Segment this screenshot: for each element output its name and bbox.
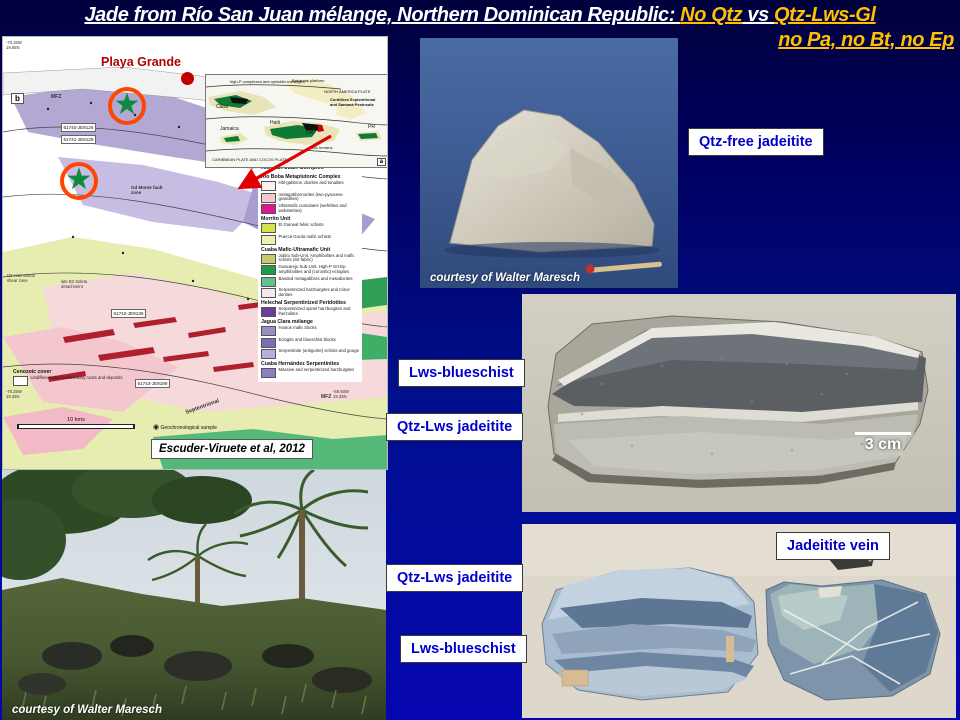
legend-item-text: Undifferentiated sedimentary rocks and d… [31, 376, 123, 381]
legend-item: Banded metagabbros and metadiorites [261, 277, 359, 287]
map-coord-top-left: -70.25W 19.65N [6, 40, 22, 50]
legend-swatch [261, 288, 276, 298]
legend-item: Eclogite and blueschist blocks [261, 338, 359, 348]
inset-label-2: NORTH AMERICA PLATE [324, 89, 371, 94]
inset-label-3: Cordillera Septentrional and Samaná Peni… [330, 97, 376, 107]
legend-swatch [261, 338, 276, 348]
legend-item-text: Banded metagabbros and metadiorites [279, 277, 353, 282]
legend-item: El Guineal felsic schists [261, 223, 359, 233]
callout-qtz-lws-jadeitite-lower[interactable]: Qtz-Lws jadeitite [386, 564, 523, 592]
map-fault-mfz-1: MFZ [51, 95, 61, 100]
inset-label-arc: Arc terrains [312, 145, 332, 150]
slide-root: Jade from Río San Juan mélange, Northern… [0, 0, 960, 720]
photo-lws-blueschist-slab [522, 294, 956, 512]
legend-swatch [261, 368, 276, 378]
title-part-vs: vs [742, 4, 774, 26]
legend-swatch [261, 181, 276, 191]
playa-grande-label: Playa Grande [101, 55, 181, 69]
photo-outcrop-field: courtesy of Walter Maresch [2, 470, 386, 720]
locality-star-north: ★ [112, 90, 142, 120]
photo-jadeitite-vein-samples [522, 524, 956, 718]
inset-label-plate: CARIBBEAN PLATE AND COCOS PLATE [212, 157, 287, 162]
legend-item: Puerca Gorda mafic schists [261, 235, 359, 245]
legend-swatch [261, 307, 276, 317]
legend-item-text: Hostos mafic blocks [279, 326, 317, 331]
legend-item-text: Serpentinized spinel harzburgites and lh… [279, 307, 360, 316]
legend-item-text: El Guineal felsic schists [279, 223, 324, 228]
inset-label-haiti: Haiti [270, 121, 280, 126]
map-sample-label-1: 61740-JE9126 [61, 123, 96, 132]
inset-label-dr: DR [306, 131, 313, 136]
map-fault-gd-monte: Gd Monte fault zone [131, 185, 171, 195]
map-scale-line [17, 424, 135, 429]
geochron-label: Geochronological sample [161, 425, 217, 431]
legend-swatch [261, 193, 276, 203]
caribbean-inset-map: high-P complexes and ophiolitic mélanges… [205, 74, 388, 168]
map-scale-bar: 10 kms [17, 417, 135, 429]
legend-item: Serpentinized harzburgites and minor dun… [261, 288, 359, 298]
legend-item: Serpentinite (antigorite) schists and go… [261, 349, 359, 359]
legend-group-heading-2: Cuaba Mafic-Ultramafic Unit [261, 247, 359, 253]
legend-cenozoic: Cenozoic cover Undifferentiated sediment… [13, 367, 143, 388]
inset-label-0: high-P complexes and ophiolitic mélanges [230, 79, 272, 84]
map-fault-shear-zone: D2 extensional shear zone [7, 273, 43, 283]
legend-swatch [261, 254, 276, 264]
photo-blueschist-art [522, 294, 956, 512]
legend-item-text: Ultramafic cumulates (wehrlites and webs… [279, 204, 360, 213]
photo-jadeitite-caption: courtesy of Walter Maresch [430, 272, 580, 284]
legend-item-text: Hbl-gabbros, diorites and tonalites [279, 181, 344, 186]
playa-grande-marker [181, 72, 194, 85]
legend-item: Serpentinized spinel harzburgites and lh… [261, 307, 359, 317]
map-coord-bottom-left: -70.25W 19.33N [6, 389, 22, 399]
photo-jadeitite-art [420, 38, 678, 288]
inset-label-cuba: Cuba [216, 105, 228, 110]
map-scale-label: 10 kms [17, 417, 135, 423]
map-sample-label-3: 61742-JE9135 [111, 309, 146, 318]
map-geochron-key: ◉ Geochronological sample [153, 423, 217, 431]
legend-swatch [261, 326, 276, 336]
geologic-map-panel: b -70.25W 19.65N -70.25W 19.33N -69.93W … [2, 36, 388, 470]
map-coord-bottom-right: -69.93W 19.33N [333, 389, 349, 399]
title-part-qtzlwsgl: Qtz-Lws-Gl [774, 4, 876, 26]
legend-item: Hostos mafic blocks [261, 326, 359, 336]
legend-item: Hbl-gabbros, diorites and tonalites [261, 181, 359, 191]
legend-item: Ultramafic cumulates (wehrlites and webs… [261, 204, 359, 214]
map-sample-label-2: 61741-JE9129 [61, 135, 96, 144]
callout-qtz-lws-jadeitite-upper[interactable]: Qtz-Lws jadeitite [386, 413, 523, 441]
legend-item: Undifferentiated sedimentary rocks and d… [13, 376, 143, 386]
photo-scale-bar-3cm: 3 cm [855, 432, 911, 454]
photo-qtz-free-jadeitite: courtesy of Walter Maresch [420, 38, 678, 288]
legend-swatch [261, 349, 276, 359]
map-fault-soleta: late B2 Soleta detachment [61, 279, 95, 289]
legend-item-text: Serpentinized harzburgites and minor dun… [279, 288, 360, 297]
map-fault-mfz-2: MFZ [321, 395, 331, 400]
locality-star-south: ★ [64, 165, 94, 195]
inset-panel-letter: a [377, 158, 386, 166]
callout-jadeitite-vein[interactable]: Jadeitite vein [776, 532, 890, 560]
legend-swatch [261, 204, 276, 214]
geochron-symbol-icon: ◉ [153, 424, 159, 431]
callout-lws-blueschist-lower[interactable]: Lws-blueschist [400, 635, 527, 663]
scale-bar-line [855, 432, 911, 435]
inset-label-pr: PR [368, 125, 375, 130]
title-part-main: Jade from Río San Juan mélange, Northern… [84, 4, 680, 26]
map-citation: Escuder-Viruete et al, 2012 [151, 439, 313, 459]
legend-item-text: Puerca Gorda mafic schists [279, 235, 332, 240]
legend-item-text: Massive and serpentinized harzburgites [279, 368, 355, 373]
legend-item-text: Serpentinite (antigorite) schists and go… [279, 349, 360, 354]
legend-swatch [261, 277, 276, 287]
legend-swatch [261, 265, 276, 275]
callout-lws-blueschist-upper[interactable]: Lws-blueschist [398, 359, 525, 387]
map-legend: Río San Juan Complex Río Boba Metapluton… [258, 163, 362, 382]
map-panel-letter: b [11, 93, 24, 104]
inset-label-1: Bahamas platform [292, 78, 324, 83]
legend-swatch [261, 235, 276, 245]
legend-item-text: Eclogite and blueschist blocks [279, 338, 336, 343]
callout-qtz-free-jadeitite[interactable]: Qtz-free jadeitite [688, 128, 824, 156]
legend-swatch [13, 376, 28, 386]
legend-item: Jobito Sub-Unit. Amphibolites and mafic … [261, 254, 359, 264]
scale-bar-label: 3 cm [855, 436, 911, 454]
legend-item-text: Jobito Sub-Unit. Amphibolites and mafic … [279, 254, 360, 263]
photo-outcrop-caption: courtesy of Walter Maresch [12, 704, 162, 716]
legend-item: metagabbronorites (two-pyroxene granulit… [261, 193, 359, 203]
title-part-noqtz: No Qtz [680, 4, 742, 26]
legend-swatch [261, 223, 276, 233]
legend-item: Guacarejo Sub-Unit. High-P Grt-Ep amphib… [261, 265, 359, 275]
photo-vein-art [522, 524, 956, 718]
photo-outcrop-art [2, 470, 386, 720]
inset-label-jamaica: Jamaica [220, 127, 239, 132]
legend-item-text: metagabbronorites (two-pyroxene granulit… [279, 193, 360, 202]
legend-item-text: Guacarejo Sub-Unit. High-P Grt-Ep amphib… [279, 265, 360, 274]
legend-item: Massive and serpentinized harzburgites [261, 368, 359, 378]
